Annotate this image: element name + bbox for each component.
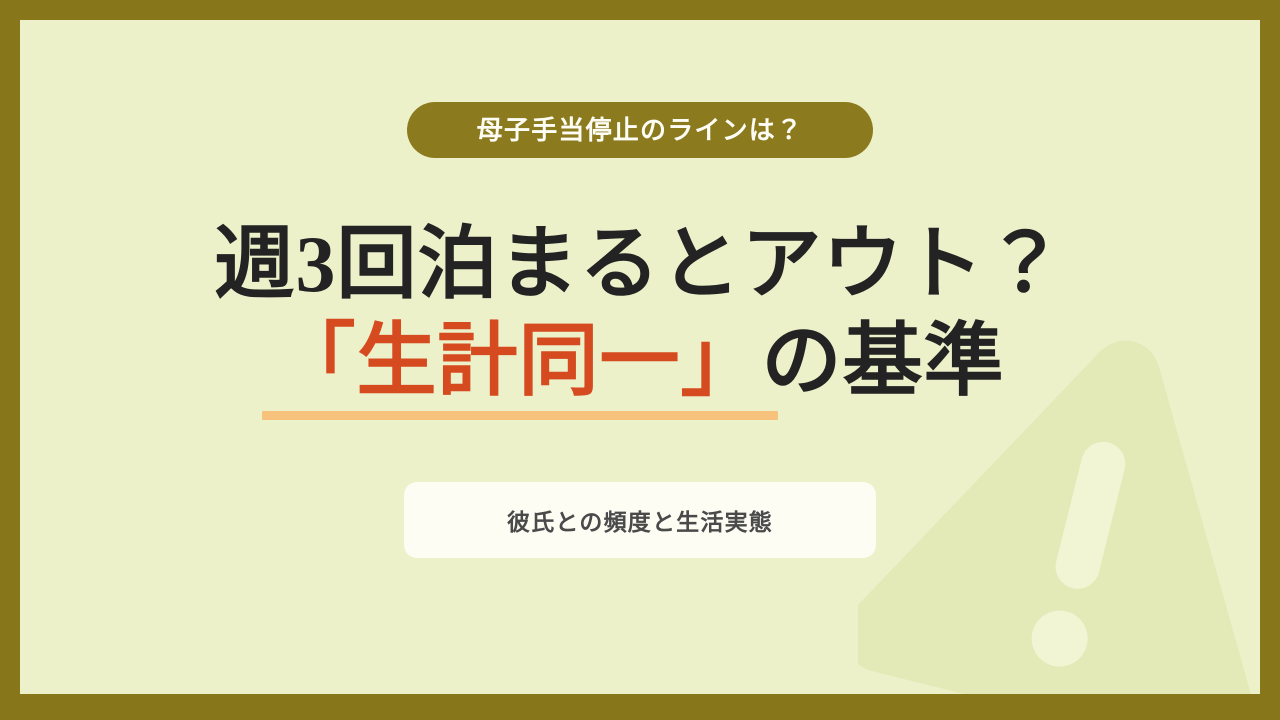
topic-badge-label: 母子手当停止のラインは？ xyxy=(477,117,803,143)
page-title: 週3回泊まるとアウト？ 「生計同一」の基準 xyxy=(215,220,1066,408)
headline-line-1: 週3回泊まるとアウト？ xyxy=(215,220,1066,311)
thumbnail-frame: 母子手当停止のラインは？ 週3回泊まるとアウト？ 「生計同一」の基準 彼氏との頻… xyxy=(0,0,1280,720)
headline-line-2: 「生計同一」の基準 xyxy=(215,317,1066,408)
caption-card-text: 彼氏との頻度と生活実態 xyxy=(507,503,773,537)
headline-line-2-rest: の基準 xyxy=(762,318,1005,406)
content-stack: 母子手当停止のラインは？ 週3回泊まるとアウト？ 「生計同一」の基準 彼氏との頻… xyxy=(20,20,1260,694)
caption-card: 彼氏との頻度と生活実態 xyxy=(404,482,876,558)
thumbnail-canvas: 母子手当停止のラインは？ 週3回泊まるとアウト？ 「生計同一」の基準 彼氏との頻… xyxy=(20,20,1260,694)
headline-accent-phrase: 「生計同一」 xyxy=(276,317,762,408)
topic-badge: 母子手当停止のラインは？ xyxy=(407,102,873,158)
